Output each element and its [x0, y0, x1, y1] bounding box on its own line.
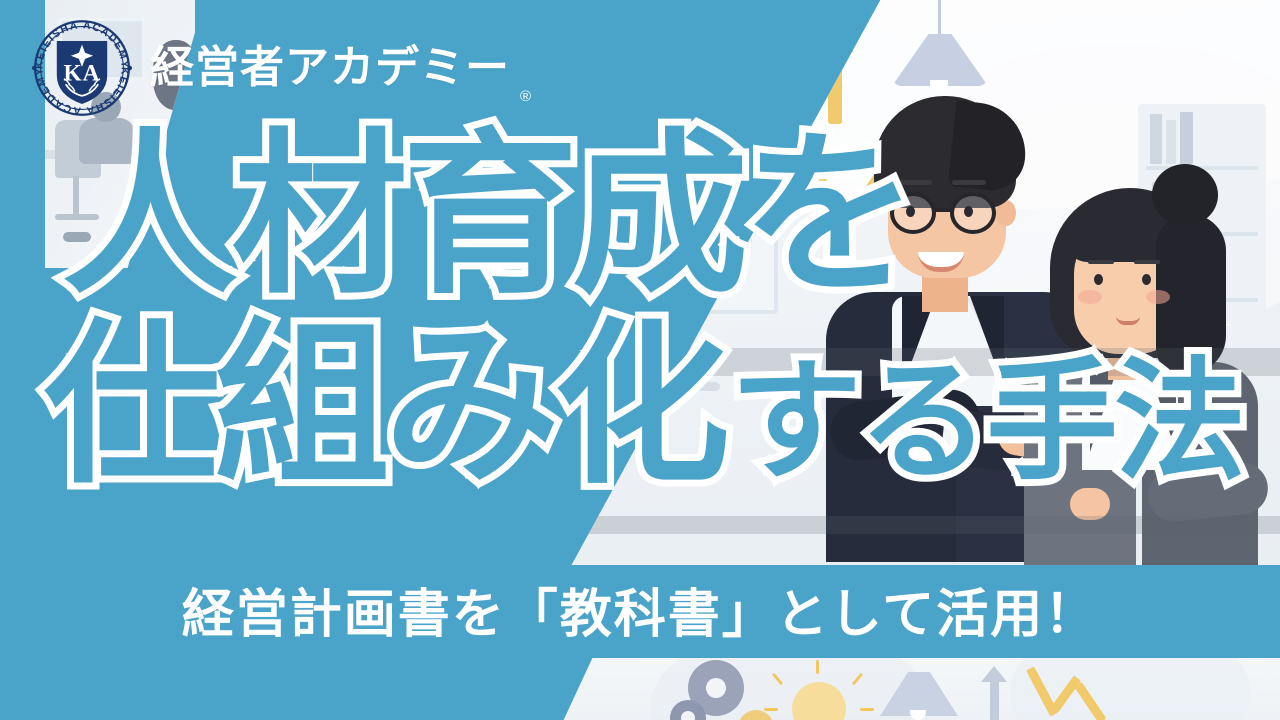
- bulb-ray: [640, 45, 655, 61]
- gear-hole: [706, 678, 726, 698]
- glasses-bridge: [934, 208, 952, 212]
- man-eye-left: [906, 206, 915, 217]
- man-eyebrow-left: [898, 180, 932, 185]
- bulb-neck: [676, 116, 698, 130]
- registered-mark: ®: [520, 89, 532, 104]
- arrow-up-head: [981, 666, 1007, 682]
- brand-name-text: 経営者アカデミー: [150, 43, 510, 92]
- bulb-ray: [860, 708, 874, 711]
- chair-leg: [73, 176, 79, 216]
- arrow-up-icon: [990, 680, 999, 720]
- woman-hair-bun: [1152, 164, 1218, 226]
- woman-blush-right: [1146, 290, 1170, 304]
- woman-eye-right: [1142, 274, 1151, 285]
- bulb-ray: [764, 708, 778, 711]
- chair-base: [55, 214, 99, 220]
- overlay-band-lower: [560, 516, 1280, 534]
- browser-content: [560, 180, 672, 406]
- woman-blush-left: [1078, 290, 1102, 304]
- bulb-base: [679, 128, 695, 137]
- man-neck: [922, 272, 968, 312]
- overlay-band-upper: [560, 348, 1280, 376]
- slide-canvas: KEIEISHA ACADEMY KEIEISHA ACADEMY KA 経営者…: [0, 0, 1280, 720]
- presentation-screen: [582, 78, 778, 314]
- woman-eye-left: [1094, 274, 1103, 285]
- illustration-panel-bottom: [560, 658, 1280, 720]
- brand-logo[interactable]: KEIEISHA ACADEMY KEIEISHA ACADEMY KA 経営者…: [28, 14, 510, 122]
- glasses-lens-right: [950, 192, 996, 234]
- bulb-ray: [718, 45, 733, 61]
- gear-icon: [560, 168, 582, 216]
- bulb-ray: [626, 86, 644, 90]
- headline-line-2-primary: 仕組み化: [44, 318, 724, 494]
- bulb-ray: [732, 86, 750, 90]
- subtitle: 経営計画書を「教科書」として活用！: [0, 572, 1280, 647]
- woman-eyebrow-right: [1134, 260, 1160, 264]
- bulb-ray: [685, 28, 689, 46]
- man-eyebrow-right: [952, 180, 986, 185]
- bulb-ray: [816, 660, 819, 674]
- seated-person-shoe: [63, 232, 91, 242]
- gear-hole: [681, 711, 695, 720]
- academy-badge-icon: KEIEISHA ACADEMY KEIEISHA ACADEMY KA: [28, 14, 136, 122]
- arrow-up-head: [779, 46, 819, 70]
- seated-person-body: [79, 118, 135, 164]
- woman-lapel-right: [1148, 366, 1176, 452]
- browser-window-mock: [560, 150, 676, 410]
- arrow-up-icon: [792, 64, 806, 130]
- bulb-ray: [630, 112, 646, 123]
- screen-foot: [636, 382, 720, 391]
- illustration-panel-right: [560, 0, 1280, 565]
- brand-name: 経営者アカデミー ®: [150, 46, 510, 90]
- lightbulb-icon: [656, 62, 718, 124]
- growth-arrow-head: [816, 26, 854, 52]
- bulb-ray: [730, 112, 746, 123]
- browser-dot-grey: [566, 163, 575, 172]
- lamp-cord: [938, 0, 941, 36]
- paper-sheet: [141, 146, 171, 156]
- man-eye-right: [964, 206, 973, 217]
- browser-titlebar: [560, 154, 672, 180]
- bulb-filament: [676, 80, 698, 110]
- woman-eyebrow-left: [1088, 260, 1114, 264]
